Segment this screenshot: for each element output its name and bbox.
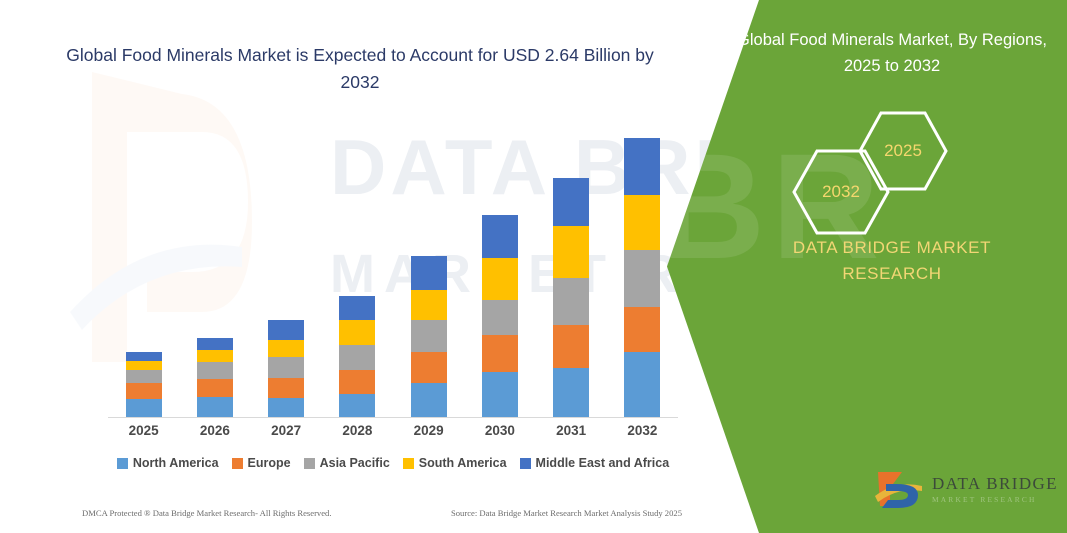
bar-column-2025 — [114, 130, 174, 417]
bar-segment-middle_east_africa — [553, 178, 589, 226]
bar-segment-middle_east_africa — [482, 215, 518, 258]
bar-segment-north_america — [268, 398, 304, 417]
brand-line-2: RESEARCH — [737, 261, 1047, 287]
bar-segment-south_america — [411, 290, 447, 320]
hex-2025-label: 2025 — [884, 141, 922, 161]
bar-segment-europe — [411, 352, 447, 383]
x-label-2029: 2029 — [399, 423, 459, 445]
legend-label: North America — [133, 456, 219, 470]
bar-segment-middle_east_africa — [339, 296, 375, 320]
legend-item-asia-pacific[interactable]: Asia Pacific — [304, 456, 390, 470]
chart-plot-area — [108, 130, 678, 418]
bar-segment-south_america — [339, 320, 375, 345]
bar-segment-middle_east_africa — [126, 352, 162, 361]
x-label-2031: 2031 — [541, 423, 601, 445]
stacked-bar — [553, 178, 589, 417]
bar-segment-middle_east_africa — [197, 338, 233, 350]
chart-panel: DATA BRIDGE MARKET RESEARCH Global Food … — [0, 0, 720, 533]
legend-swatch-icon — [520, 458, 531, 469]
bar-segment-north_america — [339, 394, 375, 417]
bar-segment-south_america — [624, 195, 660, 250]
bar-segment-south_america — [482, 258, 518, 300]
bar-segment-north_america — [553, 368, 589, 417]
hexagon-group: 2025 2032 — [767, 110, 1027, 230]
infographic-root: DATA BRIDGE MARKET RESEARCH Global Food … — [0, 0, 1067, 533]
footer-source: Source: Data Bridge Market Research Mark… — [451, 508, 682, 518]
x-label-2028: 2028 — [327, 423, 387, 445]
stacked-bars — [108, 130, 678, 417]
bar-segment-asia_pacific — [482, 300, 518, 335]
stacked-bar — [482, 215, 518, 417]
bar-segment-europe — [126, 383, 162, 399]
legend-label: Middle East and Africa — [536, 456, 670, 470]
x-axis-line — [108, 417, 678, 418]
panel-title: Global Food Minerals Market, By Regions,… — [737, 28, 1047, 79]
bar-segment-asia_pacific — [411, 320, 447, 352]
brand-name: DATA BRIDGE MARKET RESEARCH — [737, 235, 1047, 288]
bar-column-2032 — [612, 130, 672, 417]
legend-label: Europe — [248, 456, 291, 470]
hex-2032: 2032 — [791, 148, 891, 236]
legend-swatch-icon — [304, 458, 315, 469]
footer-copyright: DMCA Protected ® Data Bridge Market Rese… — [82, 508, 332, 518]
logo-main-text: DATA BRIDGE — [932, 475, 1058, 492]
bridge-b-icon — [872, 466, 924, 512]
logo-text: DATA BRIDGE MARKET RESEARCH — [932, 475, 1058, 503]
bar-segment-north_america — [197, 397, 233, 417]
legend-item-europe[interactable]: Europe — [232, 456, 291, 470]
bar-segment-south_america — [197, 350, 233, 362]
stacked-bar — [624, 138, 660, 417]
footer: DMCA Protected ® Data Bridge Market Rese… — [82, 508, 682, 518]
data-bridge-logo: DATA BRIDGE MARKET RESEARCH — [872, 463, 1062, 515]
bar-segment-asia_pacific — [624, 250, 660, 307]
bar-segment-north_america — [482, 372, 518, 417]
x-label-2027: 2027 — [256, 423, 316, 445]
x-axis-labels: 20252026202720282029203020312032 — [108, 423, 678, 445]
bar-segment-middle_east_africa — [411, 256, 447, 290]
hex-2032-label: 2032 — [822, 182, 860, 202]
legend-item-north-america[interactable]: North America — [117, 456, 219, 470]
bar-segment-middle_east_africa — [624, 138, 660, 195]
bar-segment-north_america — [624, 352, 660, 417]
bar-segment-middle_east_africa — [268, 320, 304, 340]
stacked-bar — [411, 256, 447, 417]
chart-legend: North AmericaEuropeAsia PacificSouth Ame… — [100, 456, 686, 470]
bar-segment-north_america — [411, 383, 447, 417]
logo-sub-text: MARKET RESEARCH — [932, 496, 1058, 503]
legend-swatch-icon — [232, 458, 243, 469]
legend-label: South America — [419, 456, 507, 470]
bar-segment-south_america — [268, 340, 304, 357]
bar-segment-asia_pacific — [339, 345, 375, 370]
bar-segment-asia_pacific — [553, 278, 589, 325]
bar-segment-asia_pacific — [268, 357, 304, 378]
bar-segment-europe — [268, 378, 304, 398]
legend-label: Asia Pacific — [320, 456, 390, 470]
x-label-2030: 2030 — [470, 423, 530, 445]
legend-swatch-icon — [117, 458, 128, 469]
bar-column-2026 — [185, 130, 245, 417]
bar-segment-north_america — [126, 399, 162, 417]
x-label-2025: 2025 — [114, 423, 174, 445]
stacked-bar — [268, 320, 304, 417]
bar-segment-south_america — [126, 361, 162, 370]
x-label-2032: 2032 — [612, 423, 672, 445]
bar-column-2031 — [541, 130, 601, 417]
brand-line-1: DATA BRIDGE MARKET — [737, 235, 1047, 261]
bar-segment-europe — [553, 325, 589, 368]
bar-column-2029 — [399, 130, 459, 417]
page-title: Global Food Minerals Market is Expected … — [60, 42, 660, 96]
green-side-panel: BR Global Food Minerals Market, By Regio… — [667, 0, 1067, 533]
bar-segment-asia_pacific — [126, 370, 162, 383]
bar-column-2027 — [256, 130, 316, 417]
stacked-bar — [197, 338, 233, 417]
x-label-2026: 2026 — [185, 423, 245, 445]
stacked-bar — [126, 352, 162, 417]
legend-swatch-icon — [403, 458, 414, 469]
bar-column-2030 — [470, 130, 530, 417]
legend-item-middle-east-and-africa[interactable]: Middle East and Africa — [520, 456, 670, 470]
bar-segment-south_america — [553, 226, 589, 278]
stacked-bar — [339, 296, 375, 417]
bar-segment-europe — [339, 370, 375, 394]
bar-segment-asia_pacific — [197, 362, 233, 379]
bar-segment-europe — [624, 307, 660, 352]
bar-segment-europe — [482, 335, 518, 372]
logo-mark-icon — [872, 466, 924, 512]
bar-segment-europe — [197, 379, 233, 397]
bar-column-2028 — [327, 130, 387, 417]
legend-item-south-america[interactable]: South America — [403, 456, 507, 470]
